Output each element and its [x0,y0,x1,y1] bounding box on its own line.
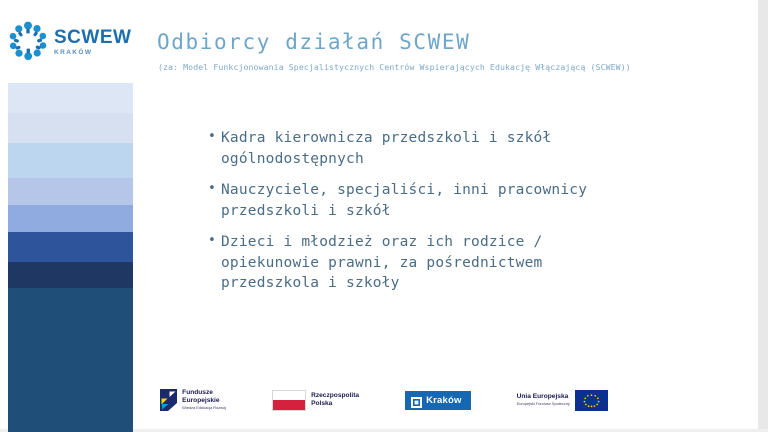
bullet-list: •Kadra kierownicza przedszkoli i szkół o… [208,128,648,305]
flag-stripe-red [273,400,305,410]
list-item: •Kadra kierownicza przedszkoli i szkół o… [208,128,648,169]
fundusze-europejskie-emblem-icon [160,389,177,411]
logo-krakow: Kraków [405,391,471,410]
color-ladder-graphic [8,83,133,432]
logo-line-3: Europejski Fundusz Społeczny [517,402,570,407]
ladder-band [8,232,133,262]
page-gutter-right [758,0,768,432]
page-title: Odbiorcy działań SCWEW [157,30,470,54]
bullet-dot-icon: • [208,232,221,250]
slide-canvas: SCWEW KRAKÓW Odbiorcy działań SCWEW (za:… [0,0,768,432]
ladder-band [8,205,133,232]
flag-stripe-white [273,391,305,401]
scwew-ring-logo-icon [8,21,48,61]
brand-name: SCWEW [54,28,131,47]
list-item-text: Kadra kierownicza przedszkoli i szkół og… [221,128,648,169]
ladder-band [8,143,133,178]
funding-logo-strip: Fundusze Europejskie Wiedza Edukacja Roz… [0,389,768,411]
logo-rzeczpospolita-polska: Rzeczpospolita Polska [272,390,359,411]
logo-line-3: Wiedza Edukacja Rozwój [182,406,226,411]
brand-lockup: SCWEW KRAKÓW [8,21,131,61]
logo-label-polska: Rzeczpospolita Polska [311,392,359,408]
eu-flag-icon [575,390,608,411]
logo-line-1: Unia Europejska [517,393,570,401]
krakow-crest-icon [411,395,422,406]
logo-unia-europejska: Unia Europejska Europejski Fundusz Społe… [517,390,608,411]
logo-line-1: Fundusze [182,389,226,397]
list-item: •Nauczyciele, specjaliści, inni pracowni… [208,180,648,221]
ladder-band [8,83,133,113]
brand-sublabel: KRAKÓW [54,50,131,57]
list-item-text: Dzieci i młodzież oraz ich rodzice / opi… [221,232,648,294]
logo-fundusze-europejskie: Fundusze Europejskie Wiedza Edukacja Roz… [160,389,226,411]
logo-label-unia: Unia Europejska Europejski Fundusz Społe… [517,393,570,407]
ladder-band [8,262,133,288]
polish-flag-icon [272,390,306,411]
ladder-band [8,113,133,143]
list-item-text: Nauczyciele, specjaliści, inni pracownic… [221,180,648,221]
krakow-label: Kraków [426,395,462,406]
logo-line-2: Europejskie [182,397,226,405]
brand-text: SCWEW KRAKÓW [54,26,131,57]
ladder-band [8,178,133,205]
bullet-dot-icon: • [208,180,221,198]
logo-line-1: Rzeczpospolita [311,392,359,400]
list-item: •Dzieci i młodzież oraz ich rodzice / op… [208,232,648,294]
bullet-dot-icon: • [208,128,221,146]
logo-line-2: Polska [311,400,359,408]
page-subtitle: (za: Model Funkcjonowania Specjalistyczn… [158,62,678,74]
logo-label-fundusze: Fundusze Europejskie Wiedza Edukacja Roz… [182,389,226,411]
